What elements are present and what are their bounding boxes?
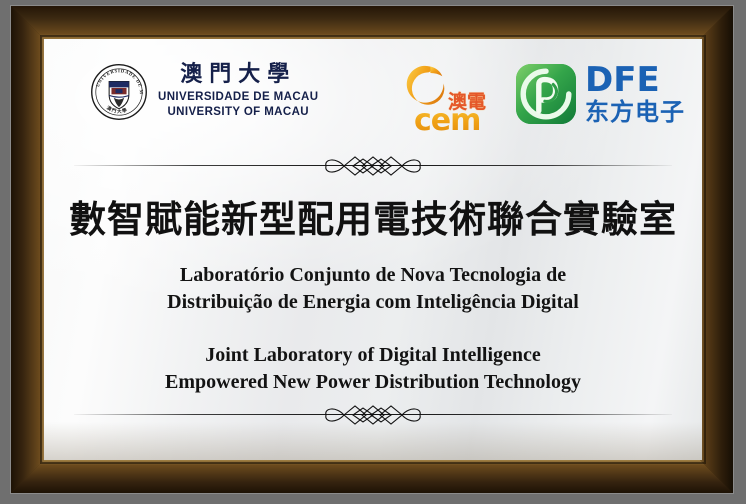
- ornamental-divider-top: [74, 153, 672, 179]
- dfe-chinese-name: 东方电子: [585, 100, 685, 124]
- title-portuguese-line1: Laboratório Conjunto de Nova Tecnologia …: [44, 262, 702, 289]
- cem-wordmark: cem: [414, 103, 480, 138]
- ornamental-divider-bottom: [74, 402, 672, 428]
- plaque-face: UNIVERSIDADE DE MACAU 澳門大學: [44, 39, 702, 460]
- title-portuguese: Laboratório Conjunto de Nova Tecnologia …: [44, 262, 702, 316]
- frame-face-left: [11, 6, 45, 493]
- title-english: Joint Laboratory of Digital Intelligence…: [44, 342, 702, 396]
- dfe-logo: DFE 东方电子: [516, 63, 685, 124]
- plaque-screenshot: UNIVERSIDADE DE MACAU 澳門大學: [0, 0, 746, 504]
- dfe-mark-icon: [516, 64, 576, 124]
- divider-ornament-icon: [314, 402, 432, 433]
- frame-face-bottom: [11, 459, 733, 493]
- title-chinese: 數智賦能新型配用電技術聯合實驗室: [44, 189, 702, 243]
- divider-ornament-icon: [314, 153, 432, 184]
- title-english-line2: Empowered New Power Distribution Technol…: [44, 369, 702, 396]
- dfe-abbreviation: DFE: [585, 63, 685, 97]
- um-chinese-name: 澳門大學: [158, 64, 318, 86]
- university-of-macau-wordmark: 澳門大學 UNIVERSIDADE DE MACAU UNIVERSITY OF…: [158, 64, 318, 120]
- title-portuguese-line2: Distribuição de Energia com Inteligência…: [44, 289, 702, 316]
- university-of-macau-seal-icon: UNIVERSIDADE DE MACAU 澳門大學: [90, 63, 148, 121]
- logo-row: UNIVERSIDADE DE MACAU 澳門大學: [44, 55, 702, 147]
- frame-face-right: [699, 6, 733, 493]
- university-of-macau-logo: UNIVERSIDADE DE MACAU 澳門大學: [90, 63, 318, 121]
- frame-face-top: [11, 6, 733, 40]
- dfe-wordmark: DFE 东方电子: [585, 63, 685, 124]
- um-english-name: UNIVERSITY OF MACAU: [158, 105, 318, 120]
- cem-logo: 澳電 cem: [392, 59, 512, 143]
- um-portuguese-name: UNIVERSIDADE DE MACAU: [158, 90, 318, 105]
- title-english-line1: Joint Laboratory of Digital Intelligence: [44, 342, 702, 369]
